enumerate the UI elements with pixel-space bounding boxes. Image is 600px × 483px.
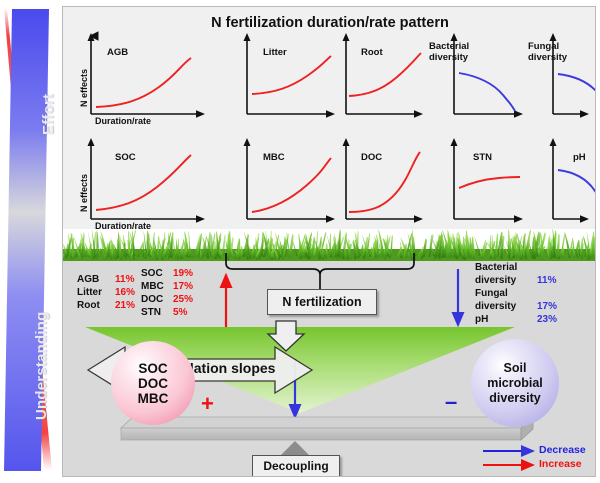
effort-understanding-gradient-bar: Effort Understanding — [0, 0, 62, 483]
soc-sphere-line-1: SOC — [138, 361, 167, 376]
soc-doc-mbc-sphere[interactable]: SOC DOC MBC — [111, 341, 195, 425]
microbial-sphere-line-2: microbial — [487, 376, 543, 391]
plus-sign: + — [201, 393, 214, 415]
main-panel: N fertilization duration/rate pattern — [62, 6, 596, 477]
beam-front-face — [121, 428, 521, 440]
decoupling-box[interactable]: Decoupling — [252, 455, 340, 477]
legend-increase-label: Increase — [539, 458, 582, 470]
legend-decrease-label: Decrease — [539, 444, 586, 456]
gradient-wedges-svg — [0, 0, 62, 483]
microbial-sphere-line-1: Soil — [504, 361, 527, 376]
soc-sphere-line-3: MBC — [138, 391, 169, 406]
soc-sphere-line-2: DOC — [138, 376, 168, 391]
beam-top-face — [121, 417, 533, 428]
microbial-sphere-line-3: diversity — [489, 391, 540, 406]
soil-microbial-diversity-sphere[interactable]: Soil microbial diversity — [471, 339, 559, 427]
fulcrum-triangle — [281, 441, 309, 455]
figure-root: Effort Understanding N fertilization dur… — [0, 0, 600, 483]
grass-brace — [226, 253, 414, 275]
n-fertilization-box[interactable]: N fertilization — [267, 289, 377, 315]
minus-sign: – — [445, 391, 457, 413]
